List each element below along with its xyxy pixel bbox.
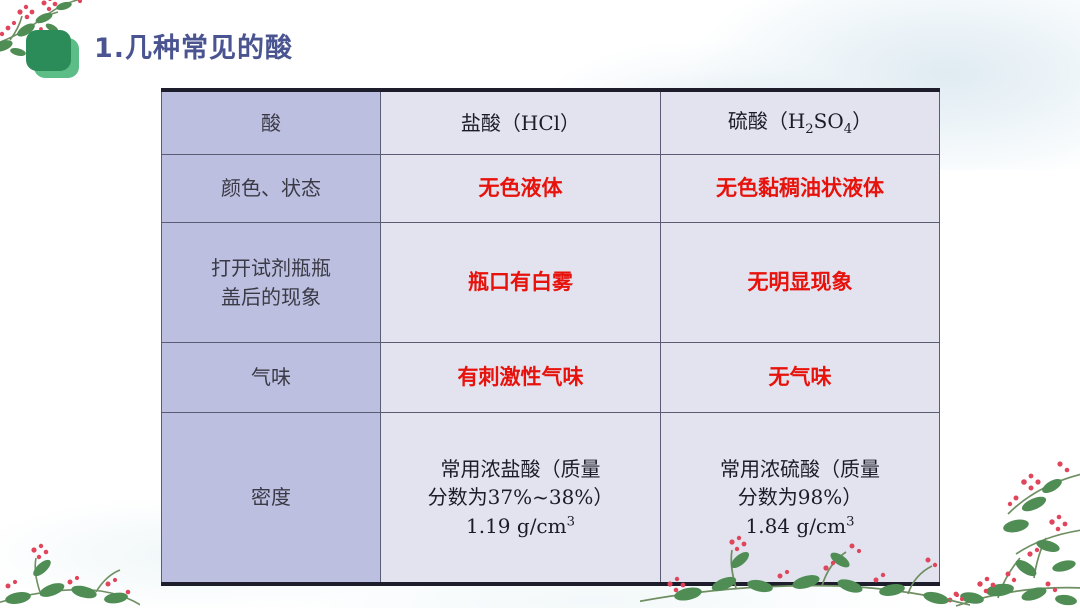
header-h2so4-formula: （H2SO4） [768,109,872,133]
density-hcl-number: 1.19 [466,514,511,538]
cell-odor-hcl: 有刺激性气味 [381,343,661,413]
cell-density-h2so4-value: 1.84 g/cm3 [667,512,933,540]
row-label-color-state: 颜色、状态 [162,155,381,223]
density-h2so4-number: 1.84 [746,514,791,538]
header-hcl-formula: （HCl） [501,111,580,135]
slide-header: 1.几种常见的酸 [0,0,560,92]
header-h2so4-name: 硫酸 [728,109,768,133]
cell-color-state-hcl: 无色液体 [381,155,661,223]
acid-comparison-table: 酸 盐酸（HCl） 硫酸（H2SO4） 颜色、状态 无色液体 无色黏稠油状液体 … [161,88,940,586]
density-hcl-unit: g/cm [517,514,567,538]
row-label-open-bottle: 打开试剂瓶瓶 盖后的现象 [162,223,381,343]
header-cell-property: 酸 [162,90,381,155]
cell-density-hcl-line1: 常用浓盐酸（质量 [387,455,654,483]
slide-canvas: 1.几种常见的酸 酸 盐酸（HCl） 硫酸（H2SO4） 颜色、状态 无色液体 … [0,0,1080,608]
header-cell-sulfuric-acid: 硫酸（H2SO4） [661,90,940,155]
density-h2so4-unit: g/cm [796,514,846,538]
header-hcl-name: 盐酸 [461,111,501,135]
table-row-header: 酸 盐酸（HCl） 硫酸（H2SO4） [162,90,940,155]
cell-density-hcl: 常用浓盐酸（质量 分数为37%~38%） 1.19 g/cm3 [381,413,661,585]
cell-density-h2so4: 常用浓硫酸（质量 分数为98%） 1.84 g/cm3 [661,413,940,585]
row-label-open-bottle-line1: 打开试剂瓶瓶 [168,254,374,282]
density-h2so4-exponent: 3 [846,514,854,529]
cell-color-state-h2so4: 无色黏稠油状液体 [661,155,940,223]
cell-open-bottle-h2so4: 无明显现象 [661,223,940,343]
header-cell-hydrochloric-acid: 盐酸（HCl） [381,90,661,155]
row-label-density: 密度 [162,413,381,585]
cell-density-h2so4-line1: 常用浓硫酸（质量 [667,455,933,483]
page-title: 1.几种常见的酸 [94,26,293,65]
table-row: 密度 常用浓盐酸（质量 分数为37%~38%） 1.19 g/cm3 常用浓硫酸… [162,413,940,585]
floral-branch-bottom-left-icon [0,498,140,608]
row-label-open-bottle-line2: 盖后的现象 [168,283,374,311]
cell-odor-h2so4: 无气味 [661,343,940,413]
cell-density-hcl-line2: 分数为37%~38%） [387,483,654,511]
accent-square-front [26,30,71,71]
table-row: 气味 有刺激性气味 无气味 [162,343,940,413]
density-hcl-exponent: 3 [567,514,575,529]
cell-density-hcl-value: 1.19 g/cm3 [387,512,654,540]
row-label-odor: 气味 [162,343,381,413]
table-row: 颜色、状态 无色液体 无色黏稠油状液体 [162,155,940,223]
table-row: 打开试剂瓶瓶 盖后的现象 瓶口有白雾 无明显现象 [162,223,940,343]
cell-open-bottle-hcl: 瓶口有白雾 [381,223,661,343]
cell-density-h2so4-line2: 分数为98%） [667,483,933,511]
